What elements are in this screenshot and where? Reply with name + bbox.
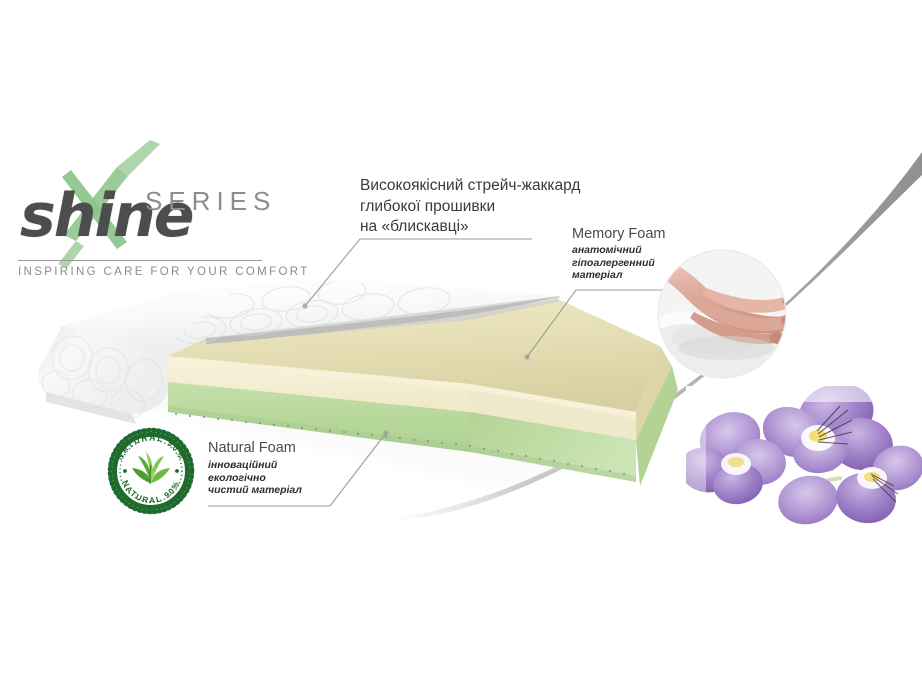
poster-canvas: NATURAL 90% NATURAL 90%: [0, 0, 922, 700]
callout-memory-foam-title: Memory Foam: [572, 226, 712, 243]
callout-natural-foam: Natural Foam інноваційний екологічно чис…: [208, 440, 368, 497]
logo-divider: [18, 260, 262, 261]
natural-90-badge: NATURAL 90% NATURAL 90%: [108, 428, 194, 514]
artwork-layer: NATURAL 90% NATURAL 90%: [0, 0, 922, 700]
logo-tagline: INSPIRING CARE FOR YOUR COMFORT: [18, 266, 310, 278]
callout-memory-foam-subtitle: анатомічний гіпоалергенний матеріал: [572, 244, 712, 282]
violet-flowers-photo: [674, 375, 922, 546]
callout-natural-foam-title: Natural Foam: [208, 440, 368, 457]
logo-series-label: SERIES: [145, 186, 276, 217]
callout-memory-foam: Memory Foam анатомічний гіпоалергенний м…: [572, 226, 712, 282]
brand-logo: shine SERIES INSPIRING CARE FOR YOUR COM…: [6, 160, 268, 290]
callout-natural-foam-subtitle: інноваційний екологічно чистий матеріал: [208, 459, 368, 497]
